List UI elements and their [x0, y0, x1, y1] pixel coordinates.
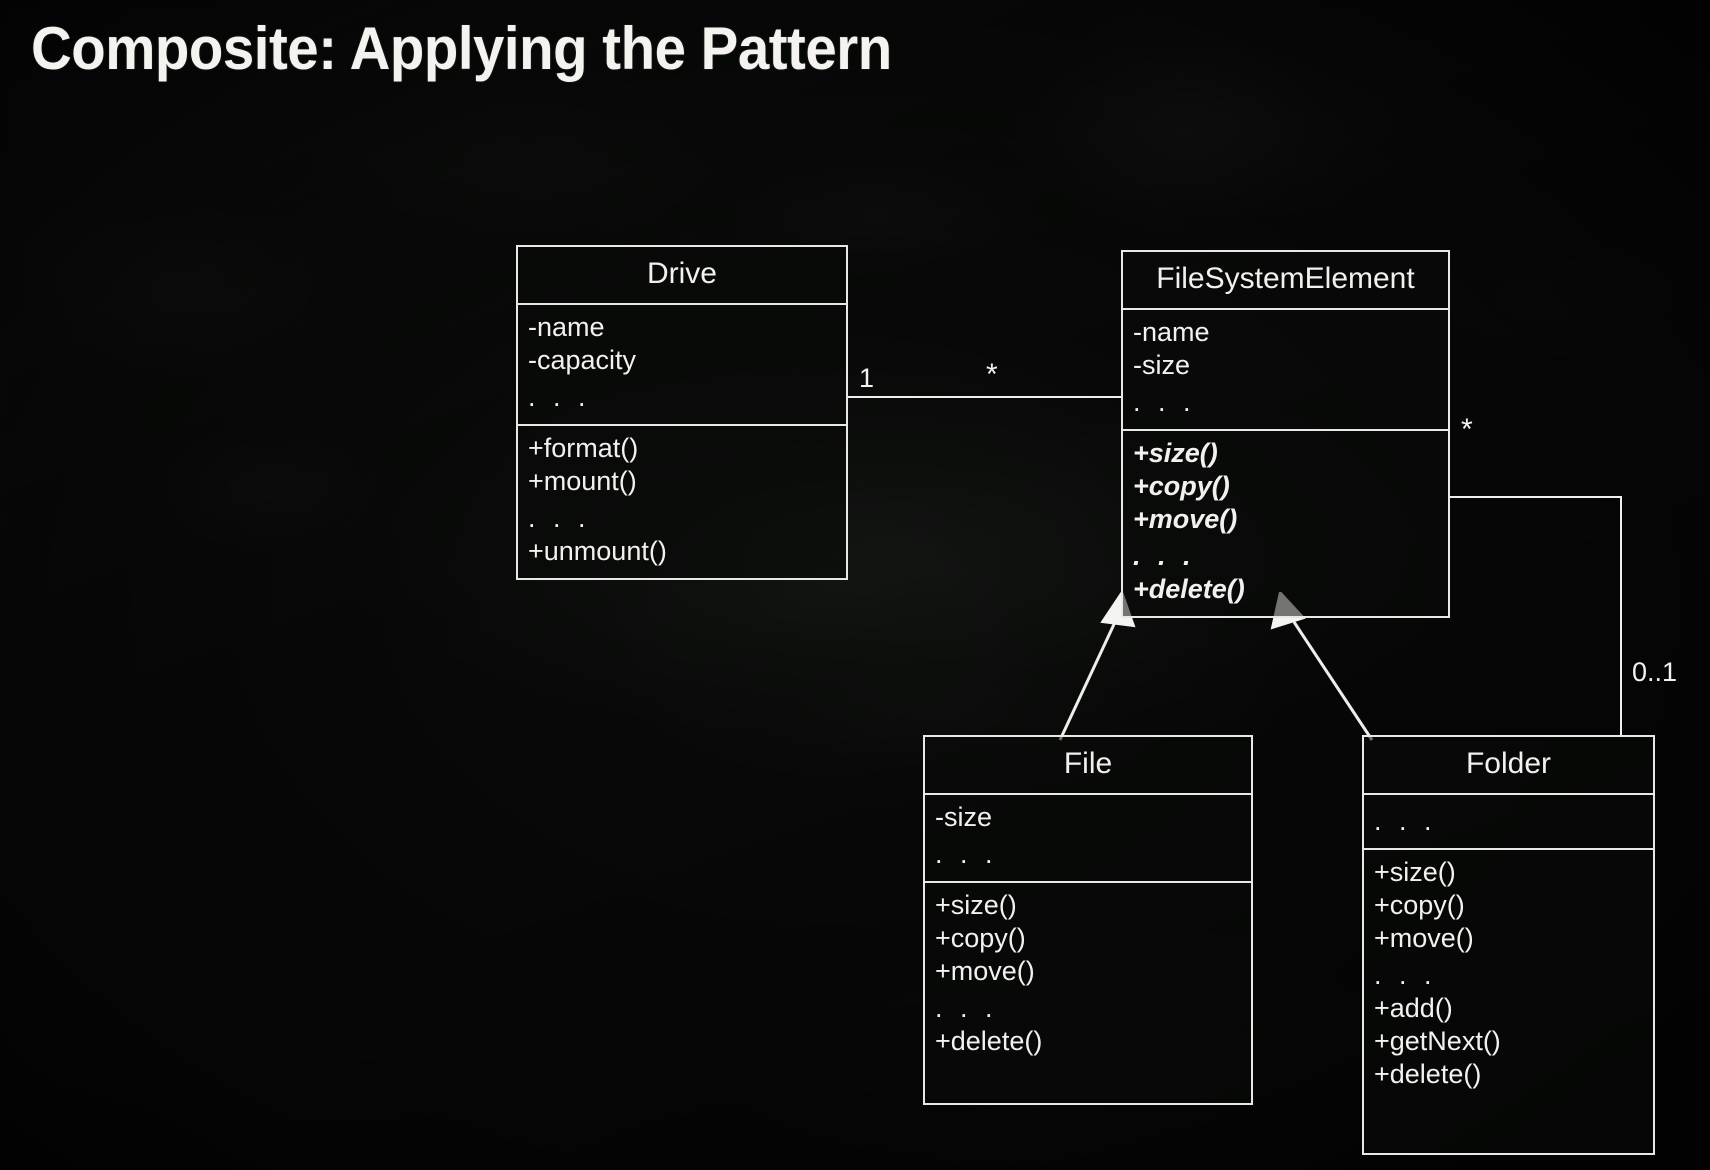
slide-title: Composite: Applying the Pattern — [31, 12, 892, 86]
operation-row: +size() — [935, 889, 1245, 922]
attributes-compartment-drive: -name -capacity . . . — [518, 305, 846, 426]
multiplicity-label-filesystemelement-side: * — [986, 360, 998, 390]
uml-class-file: File -size . . . +size() +copy() +move()… — [923, 735, 1253, 1105]
operations-compartment-folder: +size() +copy() +move() . . . +add() +ge… — [1364, 850, 1653, 1101]
operation-row: +move() — [1374, 922, 1647, 955]
operation-row: +delete() — [935, 1025, 1245, 1058]
operation-row-ellipsis: . . . — [1374, 955, 1647, 992]
operation-row: +copy() — [935, 922, 1245, 955]
attribute-row: -name — [1133, 316, 1442, 349]
attributes-compartment-file: -size . . . — [925, 795, 1251, 883]
operation-row: +size() — [1374, 856, 1647, 889]
association-line-drive-filesystemelement — [848, 396, 1123, 398]
association-line-filesystemelement-folder-vertical — [1620, 496, 1622, 736]
operation-row: +unmount() — [528, 535, 840, 568]
multiplicity-label-parent-side: 0..1 — [1632, 657, 1677, 687]
operation-row: +delete() — [1374, 1058, 1647, 1091]
class-name-folder: Folder — [1364, 737, 1653, 795]
attributes-compartment-folder: . . . — [1364, 795, 1653, 850]
operation-row: +delete() — [1133, 573, 1442, 606]
uml-class-drive: Drive -name -capacity . . . +format() +m… — [516, 245, 848, 580]
operations-compartment-file: +size() +copy() +move() . . . +delete() — [925, 883, 1251, 1068]
class-name-file: File — [925, 737, 1251, 795]
attribute-row-ellipsis: . . . — [528, 377, 840, 414]
operation-row: +copy() — [1374, 889, 1647, 922]
multiplicity-label-children-side: * — [1461, 415, 1473, 445]
slide-canvas: Composite: Applying the Pattern Drive -n… — [0, 0, 1710, 1170]
attributes-compartment-filesystemelement: -name -size . . . — [1123, 310, 1448, 431]
operation-row: +copy() — [1133, 470, 1442, 503]
operation-row: +format() — [528, 432, 840, 465]
uml-class-filesystemelement: FileSystemElement -name -size . . . +siz… — [1121, 250, 1450, 618]
class-name-filesystemelement: FileSystemElement — [1123, 252, 1448, 310]
operation-row: +mount() — [528, 465, 840, 498]
operation-row-ellipsis: . . . — [1133, 536, 1442, 573]
multiplicity-label-drive-side: 1 — [859, 363, 874, 393]
operation-row: +size() — [1133, 437, 1442, 470]
attribute-row-ellipsis: . . . — [1374, 801, 1647, 838]
operation-row: +getNext() — [1374, 1025, 1647, 1058]
attribute-row: -size — [1133, 349, 1442, 382]
attribute-row-ellipsis: . . . — [1133, 382, 1442, 419]
operation-row-ellipsis: . . . — [528, 498, 840, 535]
operation-row: +add() — [1374, 992, 1647, 1025]
operation-row: +move() — [935, 955, 1245, 988]
attribute-row-ellipsis: . . . — [935, 834, 1245, 871]
attribute-row: -size — [935, 801, 1245, 834]
class-name-drive: Drive — [518, 247, 846, 305]
operation-row: +move() — [1133, 503, 1442, 536]
operations-compartment-filesystemelement: +size() +copy() +move() . . . +delete() — [1123, 431, 1448, 616]
attribute-row: -capacity — [528, 344, 840, 377]
operation-row-ellipsis: . . . — [935, 988, 1245, 1025]
operations-compartment-drive: +format() +mount() . . . +unmount() — [518, 426, 846, 578]
attribute-row: -name — [528, 311, 840, 344]
uml-class-folder: Folder . . . +size() +copy() +move() . .… — [1362, 735, 1655, 1155]
association-line-filesystemelement-folder-horizontal — [1450, 496, 1622, 498]
